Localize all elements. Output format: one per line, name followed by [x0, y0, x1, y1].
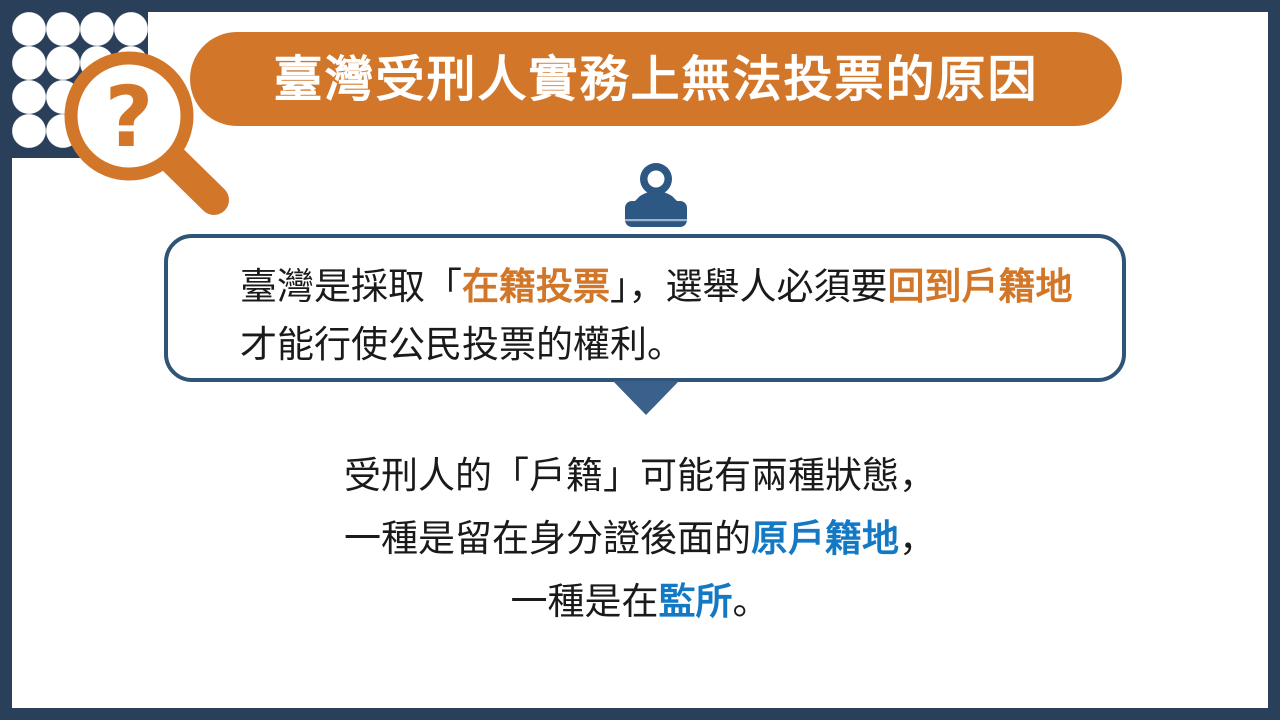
- binder-clip-icon: [600, 162, 712, 238]
- body-line-1: 受刑人的「戶籍」可能有兩種狀態，: [190, 444, 1090, 507]
- callout-highlight-zaiji-toupiao: 在籍投票: [462, 265, 610, 308]
- svg-text:?: ?: [105, 68, 154, 166]
- body-line3-seg1: 一種是在: [511, 580, 659, 623]
- callout-line1-seg3: 」，選舉人必須要: [610, 265, 888, 308]
- body-highlight-jiansuo: 監所: [659, 580, 733, 623]
- page-title: 臺灣受刑人實務上無法投票的原因: [273, 55, 1038, 104]
- callout-highlight-huidao: 回到: [888, 265, 962, 308]
- body-line-2: 一種是留在身分證後面的原戶籍地，: [190, 507, 1090, 570]
- body-line-3: 一種是在監所。: [190, 570, 1090, 633]
- body-paragraph: 受刑人的「戶籍」可能有兩種狀態， 一種是留在身分證後面的原戶籍地， 一種是在監所…: [190, 444, 1090, 633]
- callout-box: 臺灣是採取「在籍投票」，選舉人必須要回到戶籍地才能行使公民投票的權利。: [164, 234, 1126, 382]
- body-highlight-yuan-hujidi: 原戶籍地: [751, 517, 899, 560]
- callout-highlight-hujidi: 戶籍地: [962, 265, 1073, 308]
- body-line2-seg3: ，: [899, 517, 936, 560]
- callout-line2-seg2: 才能行使公民投票的權利。: [240, 323, 684, 366]
- page-title-pill: 臺灣受刑人實務上無法投票的原因: [190, 32, 1122, 126]
- slide-frame: ? 臺灣受刑人實務上無法投票的原因 臺灣是採取「在籍投票: [0, 0, 1280, 720]
- slide-canvas: ? 臺灣受刑人實務上無法投票的原因 臺灣是採取「在籍投票: [12, 12, 1268, 708]
- callout-arrow-icon: [613, 381, 679, 415]
- callout-line1-seg1: 臺灣是採取「: [240, 265, 462, 308]
- body-line2-seg1: 一種是留在身分證後面的: [344, 517, 751, 560]
- callout-text: 臺灣是採取「在籍投票」，選舉人必須要回到戶籍地才能行使公民投票的權利。: [240, 258, 1090, 374]
- body-line3-seg3: 。: [733, 580, 770, 623]
